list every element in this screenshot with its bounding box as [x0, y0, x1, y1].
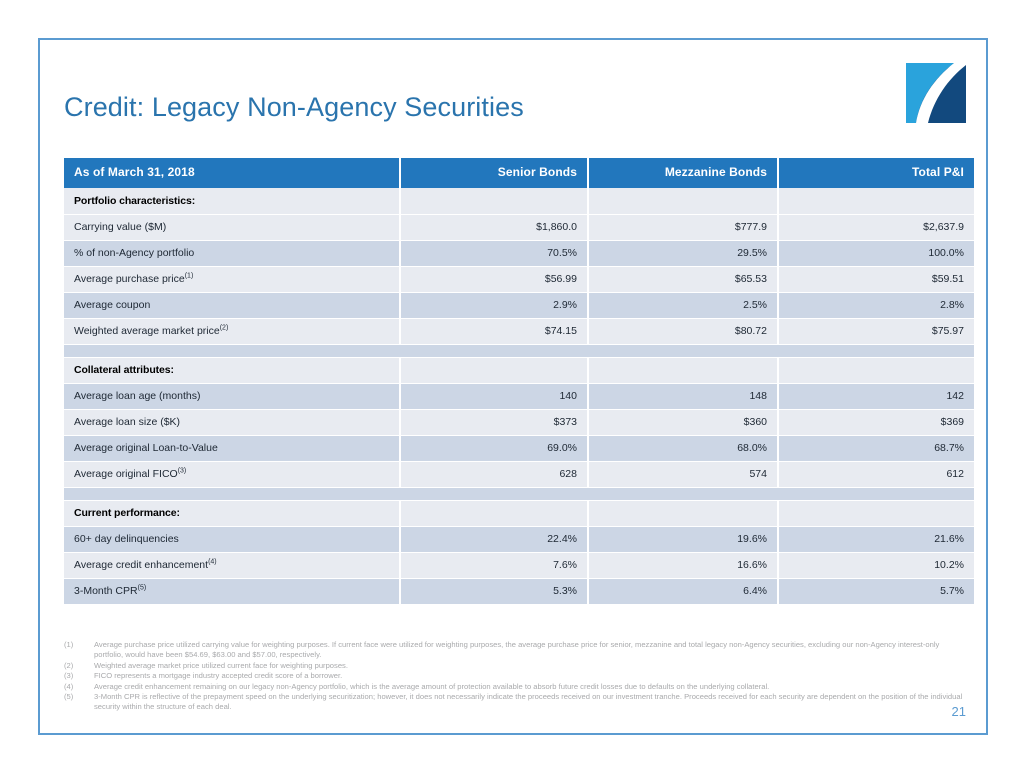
column-header-senior-bonds: Senior Bonds [400, 158, 588, 188]
table-section-header-row: Portfolio characteristics: [64, 188, 974, 214]
footnote-marker: (1) [185, 272, 194, 279]
footnote-number: (3) [64, 671, 94, 681]
cell-senior-bonds: 140 [400, 383, 588, 409]
row-label-text: Average loan size ($K) [74, 416, 180, 428]
table-row: 3-Month CPR(5)5.3%6.4%5.7% [64, 578, 974, 604]
footnote-text: Average purchase price utilized carrying… [94, 640, 964, 660]
row-label: Average loan size ($K) [64, 409, 400, 435]
cell-mezzanine-bonds: 16.6% [588, 552, 778, 578]
row-label: Carrying value ($M) [64, 214, 400, 240]
cell-mezzanine-bonds: $777.9 [588, 214, 778, 240]
cell-senior-bonds: 70.5% [400, 240, 588, 266]
section-header-empty-cell [400, 188, 588, 214]
row-label-text: Average loan age (months) [74, 390, 200, 402]
spacer-cell [64, 344, 974, 357]
section-header-empty-cell [778, 500, 974, 526]
cell-total-pi: 142 [778, 383, 974, 409]
footnote-marker: (3) [178, 467, 187, 474]
row-label: 3-Month CPR(5) [64, 578, 400, 604]
section-header-label: Collateral attributes: [64, 357, 400, 383]
table-body: Portfolio characteristics:Carrying value… [64, 188, 974, 604]
footnote-text: Average credit enhancement remaining on … [94, 682, 964, 692]
cell-senior-bonds: $74.15 [400, 318, 588, 344]
cell-mezzanine-bonds: 68.0% [588, 435, 778, 461]
row-label-text: 60+ day delinquencies [74, 533, 179, 545]
cell-mezzanine-bonds: 2.5% [588, 292, 778, 318]
footnote-marker: (5) [138, 584, 147, 591]
table-row: Average purchase price(1)$56.99$65.53$59… [64, 266, 974, 292]
cell-mezzanine-bonds: 19.6% [588, 526, 778, 552]
footnote-item: (4)Average credit enhancement remaining … [64, 682, 964, 692]
cell-total-pi: 5.7% [778, 578, 974, 604]
cell-mezzanine-bonds: 574 [588, 461, 778, 487]
financial-table-container: As of March 31, 2018 Senior Bonds Mezzan… [64, 158, 974, 605]
table-spacer-row [64, 344, 974, 357]
row-label-text: Average original FICO [74, 468, 178, 480]
section-header-empty-cell [588, 357, 778, 383]
section-header-label: Current performance: [64, 500, 400, 526]
row-label-text: Average purchase price [74, 273, 185, 285]
cell-mezzanine-bonds: $65.53 [588, 266, 778, 292]
row-label: Average original FICO(3) [64, 461, 400, 487]
cell-total-pi: 21.6% [778, 526, 974, 552]
cell-total-pi: $59.51 [778, 266, 974, 292]
cell-mezzanine-bonds: 29.5% [588, 240, 778, 266]
row-label: Average original Loan-to-Value [64, 435, 400, 461]
cell-total-pi: 10.2% [778, 552, 974, 578]
cell-total-pi: 68.7% [778, 435, 974, 461]
section-header-empty-cell [778, 357, 974, 383]
row-label-text: Average original Loan-to-Value [74, 442, 218, 454]
footnote-item: (2)Weighted average market price utilize… [64, 661, 964, 671]
page-number: 21 [952, 704, 966, 719]
row-label: Average purchase price(1) [64, 266, 400, 292]
table-row: Carrying value ($M)$1,860.0$777.9$2,637.… [64, 214, 974, 240]
cell-total-pi: 612 [778, 461, 974, 487]
cell-senior-bonds: 5.3% [400, 578, 588, 604]
section-header-empty-cell [778, 188, 974, 214]
spacer-cell [64, 487, 974, 500]
slide-canvas: Credit: Legacy Non-Agency Securities As … [38, 38, 988, 735]
footnote-item: (3)FICO represents a mortgage industry a… [64, 671, 964, 681]
cell-senior-bonds: 7.6% [400, 552, 588, 578]
row-label-text: % of non-Agency portfolio [74, 247, 194, 259]
section-header-empty-cell [400, 357, 588, 383]
table-row: Average loan size ($K)$373$360$369 [64, 409, 974, 435]
row-label-text: Carrying value ($M) [74, 221, 166, 233]
page-title: Credit: Legacy Non-Agency Securities [64, 92, 524, 123]
table-row: Average original FICO(3)628574612 [64, 461, 974, 487]
table-row: % of non-Agency portfolio70.5%29.5%100.0… [64, 240, 974, 266]
cell-total-pi: 2.8% [778, 292, 974, 318]
table-spacer-row [64, 487, 974, 500]
cell-mezzanine-bonds: $360 [588, 409, 778, 435]
column-header-mezzanine-bonds: Mezzanine Bonds [588, 158, 778, 188]
cell-senior-bonds: 628 [400, 461, 588, 487]
cell-senior-bonds: 69.0% [400, 435, 588, 461]
footnote-number: (1) [64, 640, 94, 650]
cell-senior-bonds: 2.9% [400, 292, 588, 318]
cell-senior-bonds: $56.99 [400, 266, 588, 292]
row-label-text: Average credit enhancement [74, 559, 208, 571]
row-label: Weighted average market price(2) [64, 318, 400, 344]
footnote-item: (5)3-Month CPR is reflective of the prep… [64, 692, 964, 712]
row-label-text: 3-Month CPR [74, 585, 138, 597]
table-header-row: As of March 31, 2018 Senior Bonds Mezzan… [64, 158, 974, 188]
footnote-marker: (4) [208, 558, 217, 565]
column-header-as-of-date: As of March 31, 2018 [64, 158, 400, 188]
table-row: Average credit enhancement(4)7.6%16.6%10… [64, 552, 974, 578]
table-row: Average loan age (months)140148142 [64, 383, 974, 409]
row-label: 60+ day delinquencies [64, 526, 400, 552]
table-header: As of March 31, 2018 Senior Bonds Mezzan… [64, 158, 974, 188]
cell-mezzanine-bonds: $80.72 [588, 318, 778, 344]
cell-mezzanine-bonds: 6.4% [588, 578, 778, 604]
table-row: Weighted average market price(2)$74.15$8… [64, 318, 974, 344]
table-row: Average original Loan-to-Value69.0%68.0%… [64, 435, 974, 461]
footnote-text: Weighted average market price utilized c… [94, 661, 964, 671]
cell-total-pi: $75.97 [778, 318, 974, 344]
section-header-empty-cell [400, 500, 588, 526]
column-header-total-pi: Total P&I [778, 158, 974, 188]
row-label: Average credit enhancement(4) [64, 552, 400, 578]
footnote-text: 3-Month CPR is reflective of the prepaym… [94, 692, 964, 712]
cell-senior-bonds: $373 [400, 409, 588, 435]
section-header-empty-cell [588, 500, 778, 526]
footnote-number: (2) [64, 661, 94, 671]
footnotes-block: (1)Average purchase price utilized carry… [64, 640, 964, 713]
row-label: % of non-Agency portfolio [64, 240, 400, 266]
section-header-label: Portfolio characteristics: [64, 188, 400, 214]
table-row: Average coupon2.9%2.5%2.8% [64, 292, 974, 318]
footnote-number: (4) [64, 682, 94, 692]
section-header-empty-cell [588, 188, 778, 214]
footnote-number: (5) [64, 692, 94, 702]
table-row: 60+ day delinquencies22.4%19.6%21.6% [64, 526, 974, 552]
cell-senior-bonds: $1,860.0 [400, 214, 588, 240]
row-label-text: Weighted average market price [74, 325, 220, 337]
cell-total-pi: 100.0% [778, 240, 974, 266]
company-logo [906, 63, 966, 123]
footnote-item: (1)Average purchase price utilized carry… [64, 640, 964, 660]
cell-total-pi: $2,637.9 [778, 214, 974, 240]
row-label-text: Average coupon [74, 299, 150, 311]
table-section-header-row: Collateral attributes: [64, 357, 974, 383]
cell-total-pi: $369 [778, 409, 974, 435]
row-label: Average coupon [64, 292, 400, 318]
footnote-marker: (2) [220, 324, 229, 331]
cell-senior-bonds: 22.4% [400, 526, 588, 552]
row-label: Average loan age (months) [64, 383, 400, 409]
cell-mezzanine-bonds: 148 [588, 383, 778, 409]
table-section-header-row: Current performance: [64, 500, 974, 526]
financial-table: As of March 31, 2018 Senior Bonds Mezzan… [64, 158, 974, 605]
footnote-text: FICO represents a mortgage industry acce… [94, 671, 964, 681]
